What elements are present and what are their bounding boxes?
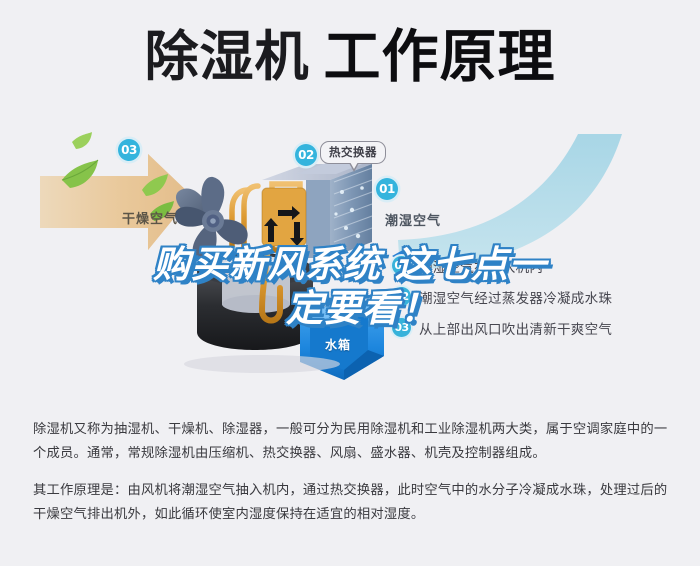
page-root: 除湿机工作原理 (0, 0, 700, 566)
legend-number-03: 03 (392, 318, 411, 337)
legend-number-01: 01 (392, 256, 411, 275)
badge-02-diagram: 02 (295, 144, 317, 166)
legend-text-01: 潮湿空气被吸入机内 (419, 256, 543, 276)
title-part-1: 除湿机 (145, 25, 310, 88)
title-part-2: 工作原理 (324, 24, 556, 90)
water-tank-label: 水箱 (325, 336, 351, 353)
dry-air-label: 干燥空气 (122, 208, 178, 227)
legend-text-02: 潮湿空气经过蒸发器冷凝成水珠 (419, 287, 612, 307)
article-body: 除湿机又称为抽湿机、干燥机、除湿器，一般可分为民用除湿机和工业除湿机两大类，属于… (33, 418, 673, 527)
legend-item-02: 02 潮湿空气经过蒸发器冷凝成水珠 (392, 281, 692, 312)
heat-exchanger-callout: 热交换器 (320, 141, 386, 164)
badge-03-diagram: 03 (118, 139, 140, 161)
legend-item-03: 03 从上部出风口吹出清新干爽空气 (392, 312, 692, 343)
page-title: 除湿机工作原理 (0, 22, 700, 92)
body-paragraph-1: 除湿机又称为抽湿机、干燥机、除湿器，一般可分为民用除湿机和工业除湿机两大类，属于… (33, 418, 673, 466)
legend-list: 01 潮湿空气被吸入机内 02 潮湿空气经过蒸发器冷凝成水珠 03 从上部出风口… (392, 250, 692, 343)
legend-text-03: 从上部出风口吹出清新干爽空气 (419, 318, 612, 338)
humid-air-label: 潮湿空气 (385, 210, 441, 229)
legend-item-01: 01 潮湿空气被吸入机内 (392, 250, 692, 281)
dehumidifier-diagram: 03 02 01 热交换器 干燥空气 潮湿空气 水箱 01 潮湿空气被吸入机内 … (0, 118, 700, 398)
legend-number-02: 02 (392, 287, 411, 306)
body-paragraph-2: 其工作原理是：由风机将潮湿空气抽入机内，通过热交换器，此时空气中的水分子冷凝成水… (33, 479, 673, 527)
badge-01-diagram: 01 (376, 178, 398, 200)
